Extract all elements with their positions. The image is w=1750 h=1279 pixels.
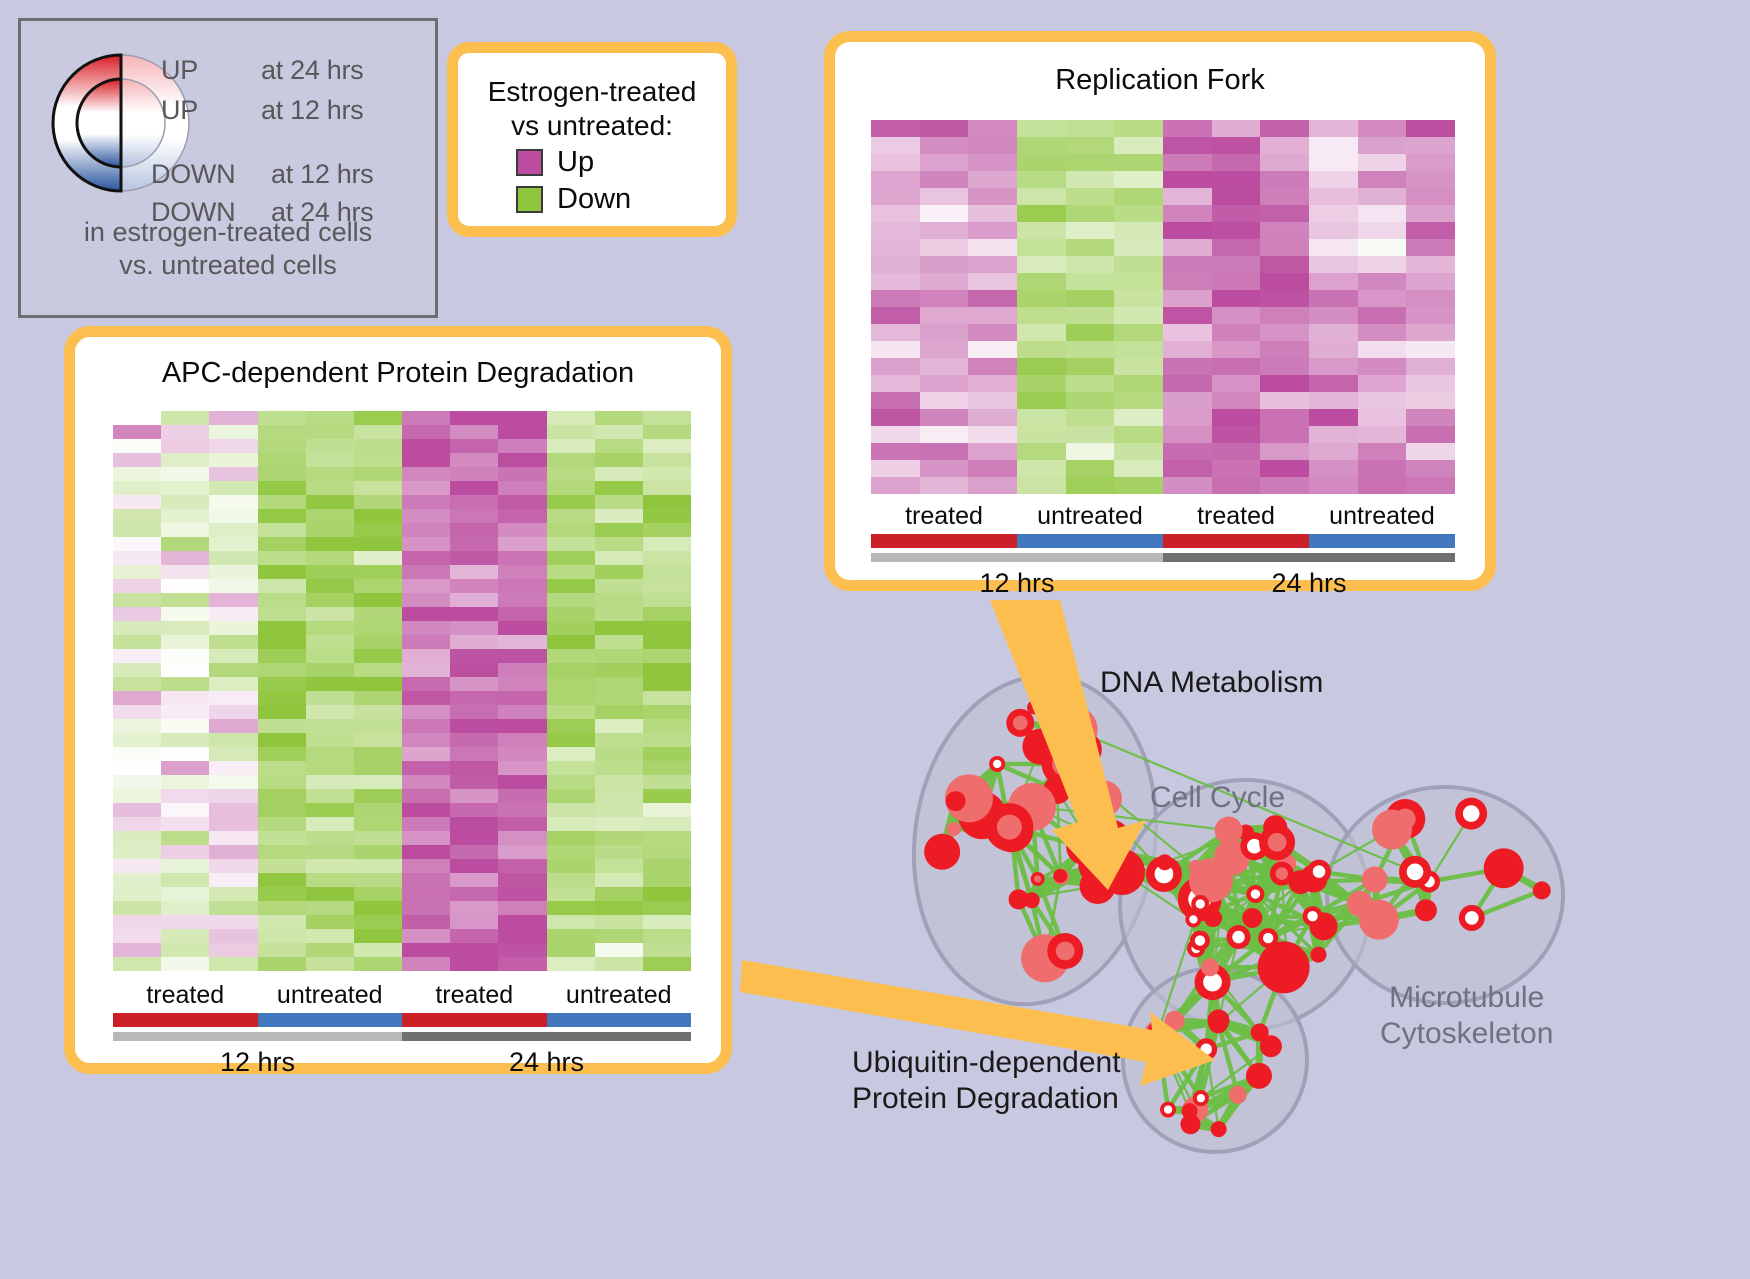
rf-cond-0: treated (871, 502, 1017, 531)
network-edge (1246, 833, 1286, 864)
heatmap-cell (113, 705, 161, 719)
heatmap-cell (402, 719, 450, 733)
heatmap-cell (1309, 443, 1358, 460)
heatmap-cell (354, 607, 402, 621)
heatmap-cell (595, 565, 643, 579)
heatmap-cell (450, 411, 498, 425)
network-edge (1196, 867, 1282, 874)
network-edge (1122, 854, 1124, 872)
network-edge (1158, 982, 1213, 1033)
network-edge (1164, 858, 1232, 874)
heatmap-cell (1406, 171, 1455, 188)
heatmap-cell (354, 817, 402, 831)
network-edge (1011, 830, 1031, 900)
network-edge (1193, 894, 1255, 919)
heatmap-cell (258, 411, 306, 425)
heatmap-cell (643, 733, 691, 747)
heatmap-cell (354, 481, 402, 495)
heatmap-cell (871, 307, 920, 324)
network-edge (1324, 904, 1360, 927)
heatmap-cell (1212, 443, 1261, 460)
network-node-core (1013, 716, 1028, 731)
network-edge (1190, 1076, 1259, 1124)
cluster-label-cell-cycle: Cell Cycle (1150, 780, 1285, 816)
network-edge (1084, 847, 1165, 862)
heatmap-cell (1017, 120, 1066, 137)
heatmap-cell (595, 957, 643, 971)
network-node (1182, 1103, 1198, 1119)
network-edge (1200, 884, 1216, 904)
heatmap-cell (1406, 222, 1455, 239)
heatmap-cell (306, 551, 354, 565)
network-edge (1011, 830, 1060, 876)
heatmap-cell (643, 957, 691, 971)
heatmap-cell (113, 901, 161, 915)
heatmap-cell (1212, 426, 1261, 443)
network-edge (1268, 916, 1312, 938)
heatmap-cell (871, 409, 920, 426)
heatmap-cell (920, 460, 969, 477)
network-edge (1190, 1049, 1207, 1111)
heatmap-cell (209, 775, 257, 789)
heatmap-cell (1358, 222, 1407, 239)
heatmap-cell (595, 621, 643, 635)
network-edge (1200, 858, 1232, 900)
network-edge (1200, 880, 1211, 899)
heatmap-cell (1309, 392, 1358, 409)
heatmap-cell (547, 943, 595, 957)
network-edge (1009, 764, 1063, 827)
heatmap-cell (547, 957, 595, 971)
network-edge (1190, 1124, 1218, 1129)
network-node (1086, 780, 1122, 816)
heatmap-cell (258, 565, 306, 579)
network-edge (1255, 872, 1319, 894)
network-node-core (1247, 839, 1262, 854)
network-node (1240, 832, 1268, 860)
heatmap-cell (1066, 477, 1115, 494)
heatmap-cell (1260, 307, 1309, 324)
network-edge (1282, 874, 1313, 917)
rf-bar-treated-12 (871, 534, 1017, 548)
network-edge (1232, 846, 1255, 857)
heatmap-cell (258, 929, 306, 943)
apc-time-1: 24 hrs (402, 1047, 691, 1078)
heatmap-cell (1309, 273, 1358, 290)
heatmap-cell (1309, 477, 1358, 494)
heatmap-cell (402, 929, 450, 943)
heatmap-cell (498, 621, 546, 635)
heatmap-cell (306, 649, 354, 663)
heatmap-cell (595, 425, 643, 439)
heatmap-cell (920, 273, 969, 290)
rf-bar-untreated-24 (1309, 534, 1455, 548)
heatmap-cell (113, 481, 161, 495)
network-node-core (1052, 753, 1075, 776)
network-edge (1210, 937, 1239, 967)
network-edge (1193, 904, 1200, 919)
network-edge (1165, 862, 1200, 899)
heatmap-cell (968, 426, 1017, 443)
heatmap-cell (258, 775, 306, 789)
heatmap-cell (209, 747, 257, 761)
key-footer-line2: vs. untreated cells (21, 249, 435, 282)
rf-time-labels: 12 hrs 24 hrs (871, 568, 1455, 599)
network-edge (1216, 831, 1228, 885)
heatmap-cell (871, 460, 920, 477)
heatmap-cell (1406, 188, 1455, 205)
heatmap-cell (306, 887, 354, 901)
network-node (1246, 1063, 1272, 1089)
network-edge (1211, 831, 1229, 881)
heatmap-cell (968, 392, 1017, 409)
heatmap-cell (1114, 239, 1163, 256)
network-edge (1122, 872, 1164, 874)
heatmap-cell (354, 439, 402, 453)
rf-condition-bars (871, 534, 1455, 548)
heatmap-cell (498, 887, 546, 901)
heatmap-cell (498, 943, 546, 957)
heatmap-cell (1066, 460, 1115, 477)
heatmap-cell (450, 775, 498, 789)
heatmap-cell (595, 775, 643, 789)
heatmap-cell (1017, 392, 1066, 409)
network-edge (954, 764, 998, 829)
heatmap-cell (402, 523, 450, 537)
replication-fork-title: Replication Fork (835, 64, 1485, 97)
network-edge (1032, 730, 1074, 807)
heatmap-cell (1309, 290, 1358, 307)
heatmap-cell (209, 607, 257, 621)
network-edge (1064, 764, 1104, 798)
network-edge (1379, 882, 1429, 920)
network-edge (1165, 862, 1211, 880)
network-edge (1196, 867, 1239, 937)
network-edge (1268, 872, 1319, 938)
heatmap-cell (306, 677, 354, 691)
network-edge (1211, 858, 1232, 881)
network-edge (1193, 858, 1231, 920)
heatmap-cell (595, 663, 643, 677)
rf-condition-labels: treated untreated treated untreated (871, 502, 1455, 531)
heatmap-cell (402, 593, 450, 607)
network-edge (1200, 904, 1268, 938)
heatmap-cell (643, 453, 691, 467)
heatmap-cell (1017, 477, 1066, 494)
network-edge (1229, 831, 1256, 895)
network-edge (1219, 1095, 1238, 1129)
heatmap-cell (643, 691, 691, 705)
heatmap-cell (450, 663, 498, 677)
heatmap-cell (113, 733, 161, 747)
network-edge (1038, 879, 1066, 951)
heatmap-cell (547, 719, 595, 733)
network-edge (1098, 854, 1124, 886)
network-edge (1268, 874, 1282, 938)
heatmap-cell (547, 901, 595, 915)
heatmap-cell (402, 677, 450, 691)
cluster-halo (1120, 780, 1370, 1030)
apc-heatmap (113, 411, 691, 971)
heatmap-cell (871, 188, 920, 205)
heatmap-cell (113, 803, 161, 817)
network-edge (1218, 1023, 1259, 1076)
heatmap-cell (161, 621, 209, 635)
network-edge (1284, 916, 1313, 967)
rf-cond-1: untreated (1017, 502, 1163, 531)
network-node-core (1164, 1105, 1172, 1113)
network-node-core (1203, 973, 1222, 992)
network-edge (1164, 862, 1165, 874)
heatmap-cell (113, 957, 161, 971)
network-edge (1319, 872, 1379, 920)
heatmap-cell (595, 579, 643, 593)
network-edge (1201, 1023, 1218, 1098)
network-edge (1206, 831, 1228, 1050)
network-edge (1064, 750, 1084, 765)
heatmap-cell (595, 677, 643, 691)
heatmap-cell (1163, 324, 1212, 341)
network-edge (1232, 858, 1239, 937)
heatmap-cell (1212, 120, 1261, 137)
heatmap-cell (306, 943, 354, 957)
network-node (1021, 934, 1069, 982)
heatmap-cell (258, 943, 306, 957)
heatmap-cell (258, 915, 306, 929)
network-node-core (1034, 875, 1041, 882)
heatmap-cell (258, 957, 306, 971)
heatmap-cell (920, 290, 969, 307)
heatmap-cell (498, 705, 546, 719)
heatmap-cell (209, 439, 257, 453)
heatmap-cell (161, 803, 209, 817)
network-edge (1286, 863, 1313, 878)
heatmap-cell (871, 137, 920, 154)
heatmap-cell (1260, 290, 1309, 307)
heatmap-cell (209, 495, 257, 509)
network-edge (1057, 790, 1061, 877)
rf-cond-2: treated (1163, 502, 1309, 531)
heatmap-cell (1260, 341, 1309, 358)
network-edge (942, 801, 956, 852)
network-edge (1275, 827, 1282, 873)
network-edge (1255, 882, 1300, 894)
heatmap-cell (871, 375, 920, 392)
heatmap-cell (306, 803, 354, 817)
network-edge (1286, 863, 1360, 903)
heatmap-cell (595, 635, 643, 649)
network-node (1027, 700, 1041, 714)
heatmap-cell (498, 607, 546, 621)
heatmap-cell (498, 677, 546, 691)
network-edge (1317, 926, 1324, 955)
heatmap-cell (547, 817, 595, 831)
heatmap-cell (595, 411, 643, 425)
heatmap-cell (450, 915, 498, 929)
network-edge (1314, 879, 1317, 956)
rf-time-1: 24 hrs (1163, 568, 1455, 599)
heatmap-cell (1358, 392, 1407, 409)
heatmap-cell (1114, 290, 1163, 307)
heatmap-cell (1358, 154, 1407, 171)
network-edge (1196, 858, 1232, 867)
network-edge (956, 764, 998, 801)
apc-time-0: 12 hrs (113, 1047, 402, 1078)
network-edge (1157, 1031, 1195, 1110)
heatmap-cell (1212, 375, 1261, 392)
network-node (1006, 709, 1034, 737)
heatmap-cell (113, 467, 161, 481)
network-node (1263, 815, 1287, 839)
heatmap-cell (547, 481, 595, 495)
network-edge (1200, 904, 1210, 967)
heatmap-cell (643, 551, 691, 565)
network-edge (1392, 830, 1415, 872)
heatmap-cell (161, 439, 209, 453)
heatmap-cell (547, 915, 595, 929)
network-edge (1193, 899, 1199, 919)
heatmap-cell (402, 509, 450, 523)
network-edge (1255, 842, 1277, 894)
heatmap-cell (1114, 477, 1163, 494)
heatmap-cell (450, 565, 498, 579)
network-edge (1360, 882, 1429, 904)
heatmap-cell (354, 775, 402, 789)
network-edge (1415, 872, 1426, 910)
heatmap-cell (402, 649, 450, 663)
heatmap-cell (1309, 426, 1358, 443)
heatmap-cell (1309, 239, 1358, 256)
heatmap-cell (113, 887, 161, 901)
network-edge (1032, 879, 1038, 900)
network-edge (1057, 790, 1102, 864)
updown-legend-card: Estrogen-treated vs untreated: Up Down (447, 42, 737, 237)
network-edge (1210, 880, 1211, 967)
heatmap-cell (1406, 273, 1455, 290)
network-edge (1239, 937, 1269, 938)
network-edge (1211, 846, 1254, 880)
heatmap-cell (209, 537, 257, 551)
heatmap-cell (354, 523, 402, 537)
heatmap-cell (1066, 324, 1115, 341)
network-edge (1193, 918, 1213, 919)
heatmap-cell (450, 677, 498, 691)
heatmap-cell (643, 803, 691, 817)
heatmap-cell (1309, 188, 1358, 205)
heatmap-cell (450, 705, 498, 719)
heatmap-cell (1260, 460, 1309, 477)
heatmap-cell (968, 239, 1017, 256)
heatmap-cell (498, 551, 546, 565)
network-edge (942, 829, 953, 852)
heatmap-cell (968, 460, 1017, 477)
network-edge (1254, 846, 1281, 873)
heatmap-cell (161, 943, 209, 957)
heatmap-cell (871, 205, 920, 222)
heatmap-cell (209, 957, 257, 971)
network-edge (1190, 1111, 1219, 1129)
heatmap-cell (354, 719, 402, 733)
heatmap-cell (498, 789, 546, 803)
heatmap-cell (1017, 409, 1066, 426)
heatmap-cell (1406, 137, 1455, 154)
network-edge (1229, 831, 1282, 874)
network-edge (1084, 841, 1109, 847)
heatmap-cell (595, 467, 643, 481)
network-edge (1277, 842, 1286, 863)
heatmap-cell (354, 691, 402, 705)
heatmap-cell (871, 256, 920, 273)
network-edge (1040, 747, 1063, 764)
heatmap-cell (968, 307, 1017, 324)
heatmap-cell (306, 761, 354, 775)
heatmap-cell (547, 467, 595, 481)
heatmap-cell (920, 154, 969, 171)
heatmap-cell (1066, 443, 1115, 460)
heatmap-cell (1309, 324, 1358, 341)
network-edge (1009, 790, 1057, 827)
network-node-core (1191, 944, 1200, 953)
heatmap-cell (1260, 188, 1309, 205)
network-edge (982, 790, 1057, 815)
network-node (1270, 862, 1294, 886)
heatmap-cell (1260, 409, 1309, 426)
network-node (1024, 892, 1040, 908)
network-node-core (997, 815, 1022, 840)
heatmap-cell (1163, 358, 1212, 375)
legend-title-line1: Estrogen-treated (458, 75, 726, 109)
network-node (1031, 872, 1045, 886)
heatmap-cell (1260, 324, 1309, 341)
network-edge (1040, 747, 1088, 768)
apc-bar-treated-12 (113, 1013, 258, 1027)
heatmap-cell (1163, 426, 1212, 443)
network-node (1189, 858, 1233, 902)
heatmap-cell (161, 551, 209, 565)
network-edge (1032, 807, 1084, 847)
network-edge (1239, 926, 1324, 937)
heatmap-cell (920, 307, 969, 324)
heatmap-cell (920, 171, 969, 188)
heatmap-cell (209, 915, 257, 929)
network-node (1310, 947, 1326, 963)
network-edge (1255, 894, 1323, 926)
network-edge (1200, 941, 1210, 968)
heatmap-cell (643, 943, 691, 957)
heatmap-cell (450, 495, 498, 509)
heatmap-cell (643, 901, 691, 915)
heatmap-cell (498, 579, 546, 593)
heatmap-cell (498, 565, 546, 579)
network-node-core (1463, 805, 1480, 822)
network-edge (1098, 874, 1164, 886)
heatmap-cell (1212, 188, 1261, 205)
heatmap-cell (161, 425, 209, 439)
network-edge (1254, 846, 1286, 863)
heatmap-cell (1260, 154, 1309, 171)
network-node (1180, 1114, 1200, 1134)
network-edge (1196, 867, 1216, 885)
heatmap-cell (450, 733, 498, 747)
heatmap-cell (1017, 222, 1066, 239)
heatmap-cell (113, 649, 161, 663)
heatmap-cell (258, 495, 306, 509)
network-node (1189, 860, 1203, 874)
heatmap-cell (1260, 137, 1309, 154)
heatmap-cell (1066, 120, 1115, 137)
network-edge (1218, 1020, 1259, 1032)
heatmap-cell (258, 467, 306, 481)
